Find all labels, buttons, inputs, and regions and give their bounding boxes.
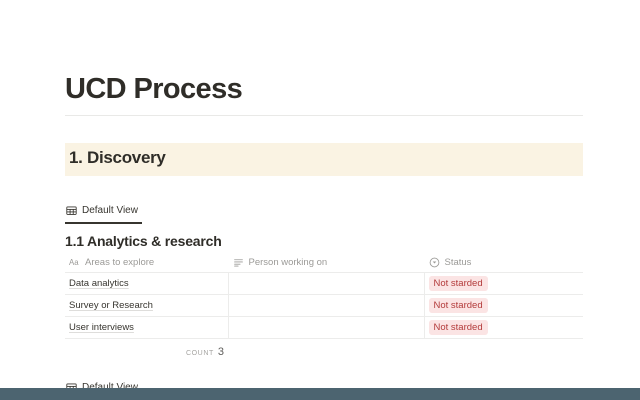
title-divider xyxy=(65,115,583,116)
table-row[interactable]: Data analytics Not starded xyxy=(65,273,583,295)
cell-status[interactable]: Not starded xyxy=(424,295,583,317)
count-value: 3 xyxy=(218,346,224,358)
column-header-label: Person working on xyxy=(249,257,328,268)
status-badge[interactable]: Not starded xyxy=(429,320,488,335)
view-tab-label: Default View xyxy=(82,381,138,389)
column-header-status[interactable]: Status xyxy=(424,254,583,273)
cell-status[interactable]: Not starded xyxy=(424,317,583,339)
table-footer-count[interactable]: Count 3 xyxy=(65,346,228,358)
cell-status[interactable]: Not starded xyxy=(424,273,583,295)
status-badge[interactable]: Not starded xyxy=(429,276,488,291)
cell-person-working-on[interactable] xyxy=(228,273,424,295)
page-title: UCD Process xyxy=(65,74,242,106)
view-tab-default-secondary[interactable]: Default View xyxy=(65,381,142,389)
table-row[interactable]: Survey or Research Not starded xyxy=(65,295,583,317)
select-circle-icon xyxy=(429,257,440,268)
database-title: 1.1 Analytics & research xyxy=(65,233,222,249)
count-label: Count xyxy=(186,350,214,357)
view-tab-label: Default View xyxy=(82,204,138,218)
column-header-areas-to-explore[interactable]: Aa Areas to explore xyxy=(65,254,228,273)
database-view-tabs: Default View xyxy=(65,203,583,224)
svg-text:Aa: Aa xyxy=(69,258,79,267)
cell-areas-to-explore[interactable]: User interviews xyxy=(65,317,228,339)
section-heading-label: 1. Discovery xyxy=(69,148,166,168)
table-grid-icon xyxy=(66,205,77,216)
bottom-slate-band xyxy=(0,388,640,400)
title-text-aa-icon: Aa xyxy=(69,258,80,267)
table-row[interactable]: User interviews Not starded xyxy=(65,317,583,339)
column-header-label: Areas to explore xyxy=(85,257,154,268)
cell-areas-to-explore[interactable]: Data analytics xyxy=(65,273,228,295)
cell-areas-to-explore[interactable]: Survey or Research xyxy=(65,295,228,317)
text-lines-icon xyxy=(233,257,244,268)
section-banner-discovery: 1. Discovery xyxy=(65,143,583,176)
database-table: Aa Areas to explore xyxy=(65,254,583,339)
table-header-row: Aa Areas to explore xyxy=(65,254,583,273)
cell-person-working-on[interactable] xyxy=(228,317,424,339)
table-body: Data analytics Not starded Survey or Res… xyxy=(65,273,583,339)
status-badge[interactable]: Not starded xyxy=(429,298,488,313)
column-header-label: Status xyxy=(445,257,472,268)
notion-page-canvas: UCD Process 1. Discovery Default View 1.… xyxy=(0,0,640,388)
column-header-person-working-on[interactable]: Person working on xyxy=(228,254,424,273)
cell-person-working-on[interactable] xyxy=(228,295,424,317)
view-tab-default[interactable]: Default View xyxy=(65,204,142,224)
database-view-tabs-secondary: Default View xyxy=(65,380,583,388)
